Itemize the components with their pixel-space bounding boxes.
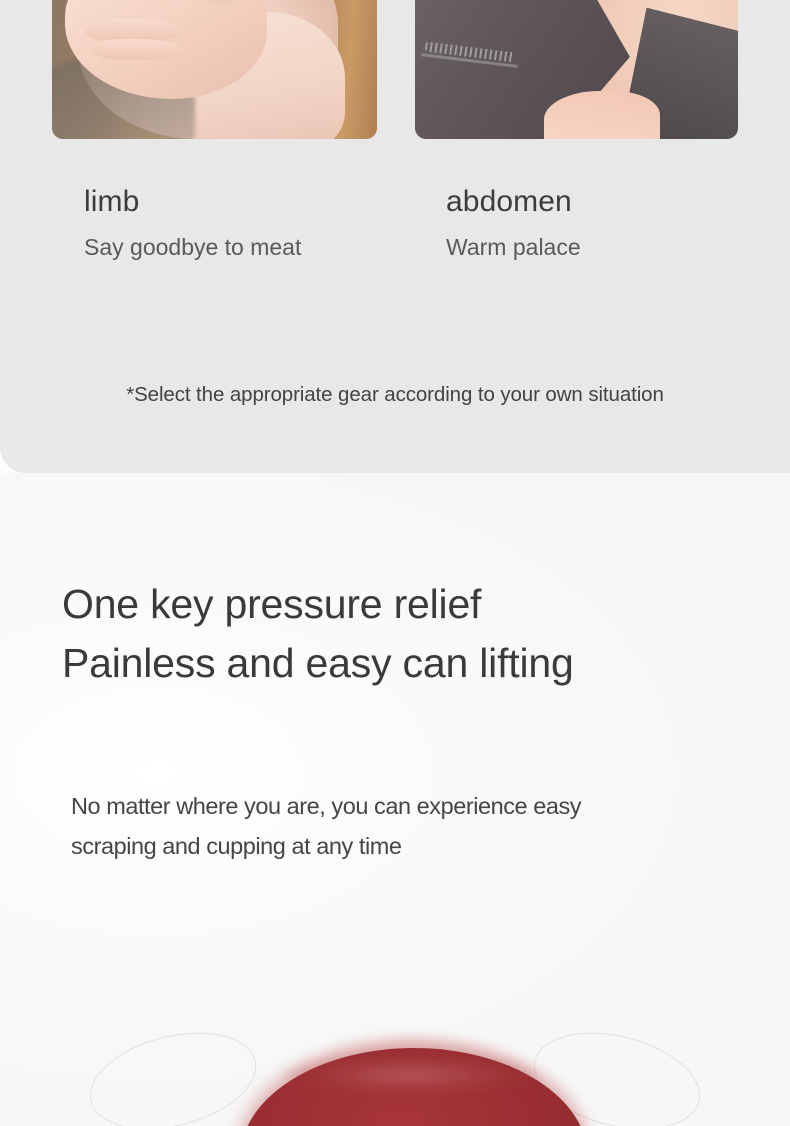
feature-body-line-2: scraping and cupping at any time	[71, 826, 731, 866]
finger-decor	[93, 39, 182, 60]
caption-abdomen-title: abdomen	[446, 186, 581, 218]
limb-cupping-photo-card	[52, 0, 377, 139]
gear-selection-note: *Select the appropriate gear according t…	[0, 383, 790, 407]
feature-headline-line-1: One key pressure relief	[62, 575, 574, 634]
hero-device-area	[0, 986, 790, 1126]
limb-cupping-photo	[52, 0, 377, 139]
device-sheen-decor	[286, 1054, 536, 1096]
caption-limb-subtitle: Say goodbye to meat	[84, 235, 301, 259]
feature-headline: One key pressure relief Painless and eas…	[62, 575, 574, 693]
abdomen-cupping-photo-card	[415, 0, 738, 139]
skin-lower-decor	[544, 91, 660, 139]
feature-headline-line-2: Painless and easy can lifting	[62, 634, 574, 693]
abdomen-cupping-photo	[415, 0, 738, 139]
feature-body-copy: No matter where you are, you can experie…	[71, 786, 731, 867]
caption-abdomen-subtitle: Warm palace	[446, 235, 581, 259]
usage-scenarios-panel: limb Say goodbye to meat abdomen Warm pa…	[0, 0, 790, 473]
product-detail-page: limb Say goodbye to meat abdomen Warm pa…	[0, 0, 790, 1126]
feature-body-line-1: No matter where you are, you can experie…	[71, 786, 731, 826]
caption-limb: limb Say goodbye to meat	[84, 186, 301, 259]
caption-abdomen: abdomen Warm palace	[446, 186, 581, 259]
caption-limb-title: limb	[84, 186, 301, 218]
